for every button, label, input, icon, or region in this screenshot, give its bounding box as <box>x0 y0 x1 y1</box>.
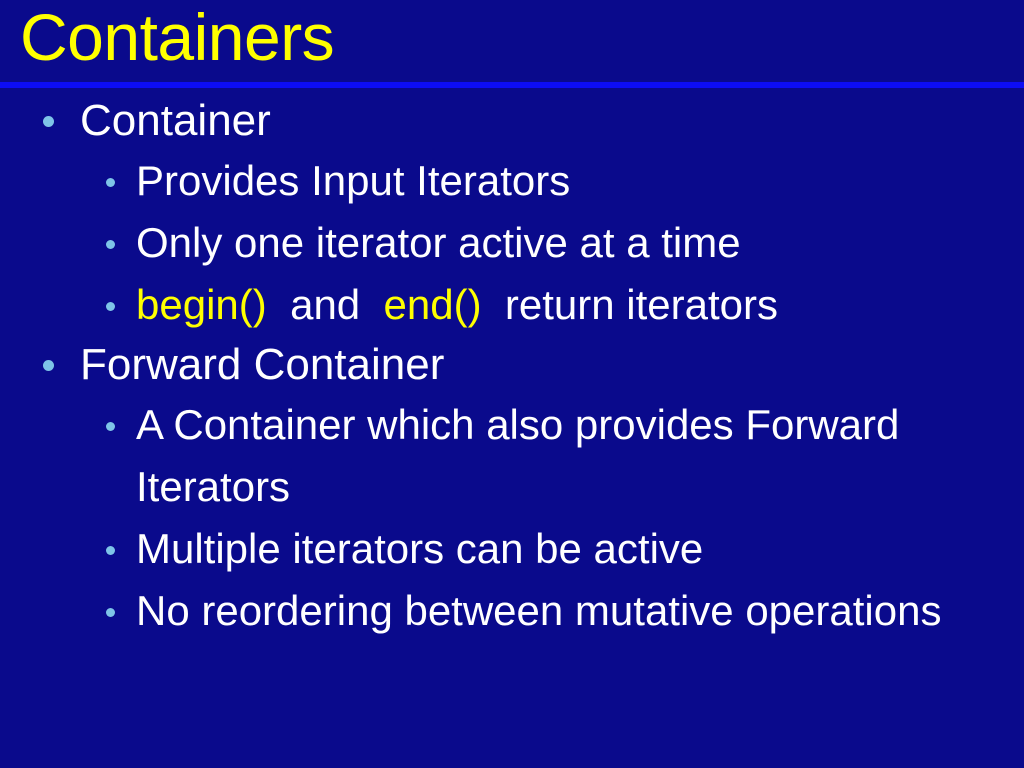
bullet-marker-icon <box>106 608 115 617</box>
bullet-item-label: Only one iterator active at a time <box>136 212 1024 274</box>
bullet-item-label: A Container which also provides Forward … <box>136 394 1024 518</box>
bullet-text-fragment: return iterators <box>482 281 778 328</box>
code-keyword-text: end() <box>384 281 482 328</box>
bullet-marker-icon <box>43 116 54 127</box>
bullet-item-level-1: Forward Container <box>0 336 1024 394</box>
bullet-text-fragment: and <box>267 281 384 328</box>
bullet-item-level-2: Multiple iterators can be active <box>0 518 1024 580</box>
bullet-item-level-2: Only one iterator active at a time <box>0 212 1024 274</box>
bullet-item-label: Provides Input Iterators <box>136 150 1024 212</box>
bullet-marker-icon <box>106 240 115 249</box>
bullet-marker-icon <box>43 360 54 371</box>
bullet-item-level-2: Provides Input Iterators <box>0 150 1024 212</box>
bullet-item-level-2: A Container which also provides Forward … <box>0 394 1024 518</box>
bullet-item-label: Container <box>80 92 1024 150</box>
bullet-item-level-2: begin() and end() return iterators <box>0 274 1024 336</box>
page-title: Containers <box>20 0 334 80</box>
slide-title-area: Containers <box>0 0 1024 82</box>
bullet-marker-icon <box>106 546 115 555</box>
bullet-marker-icon <box>106 422 115 431</box>
bullet-item-level-2: No reordering between mutative operation… <box>0 580 1024 642</box>
code-keyword-text: begin() <box>136 281 267 328</box>
bullet-item-level-1: Container <box>0 92 1024 150</box>
bullet-item-label: Multiple iterators can be active <box>136 518 1024 580</box>
bullet-item-label: No reordering between mutative operation… <box>136 580 1024 642</box>
slide: Containers ContainerProvides Input Itera… <box>0 0 1024 768</box>
bullet-marker-icon <box>106 178 115 187</box>
slide-body-bullet-list: ContainerProvides Input IteratorsOnly on… <box>0 92 1024 768</box>
title-divider-rule <box>0 82 1024 88</box>
bullet-item-label: begin() and end() return iterators <box>136 274 1024 336</box>
bullet-item-label: Forward Container <box>80 336 1024 394</box>
bullet-marker-icon <box>106 302 115 311</box>
